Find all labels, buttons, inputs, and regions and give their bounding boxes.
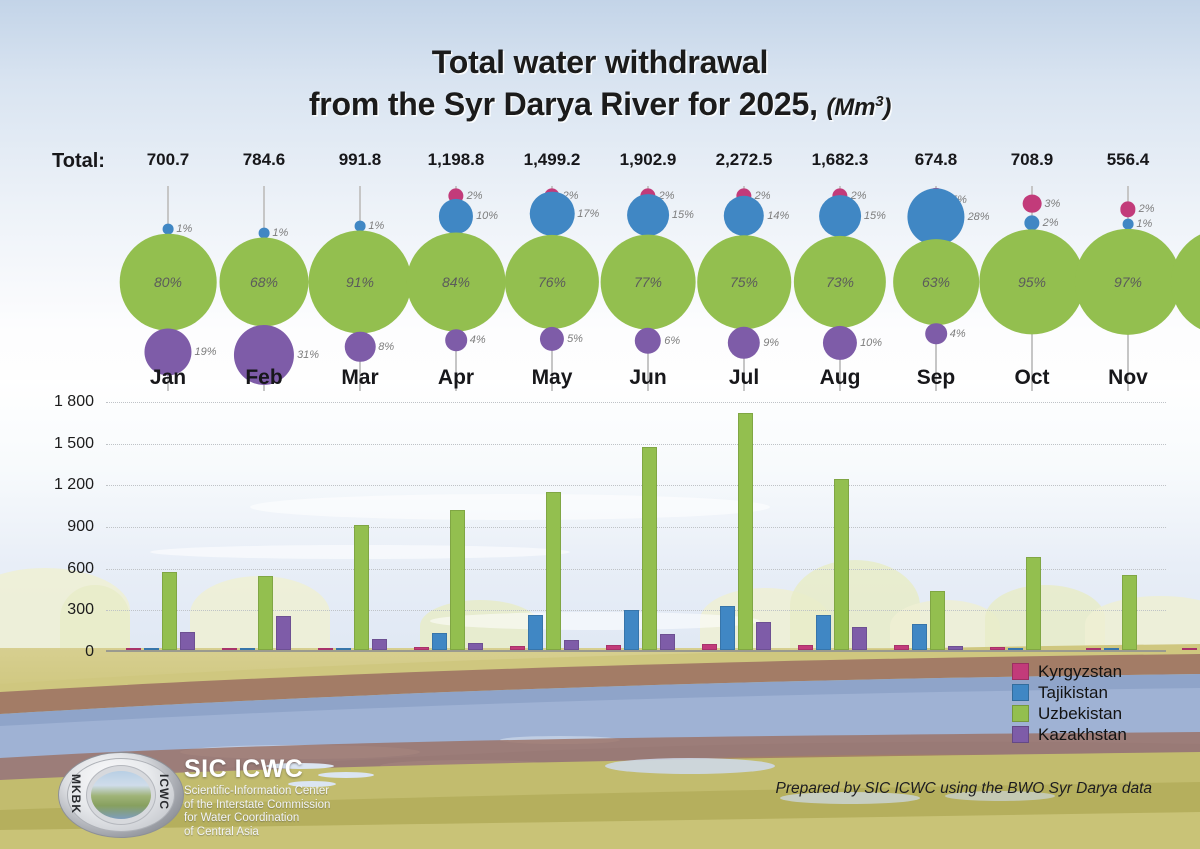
bubble-label-uzbekistan: 95% bbox=[1018, 274, 1046, 290]
bar-kazakhstan bbox=[948, 646, 963, 650]
bubble-label-tajikistan: 1% bbox=[368, 220, 384, 232]
month-label-jul: Jul bbox=[696, 366, 792, 390]
bar-group-aug bbox=[792, 400, 888, 650]
bubble-label-tajikistan: 15% bbox=[864, 210, 886, 222]
bubble-kazakhstan bbox=[635, 327, 661, 353]
total-value: 784.6 bbox=[216, 150, 312, 170]
credit-text: Prepared by SIC ICWC using the BWO Syr D… bbox=[776, 780, 1152, 798]
bubble-label-uzbekistan: 63% bbox=[922, 274, 950, 290]
bar-kyrgyzstan bbox=[126, 648, 141, 651]
bubble-kazakhstan bbox=[540, 327, 564, 351]
organization-name-line-3: for Water Coordination bbox=[184, 812, 330, 826]
bar-uzbekistan bbox=[258, 576, 273, 650]
bubble-label-tajikistan: 10% bbox=[476, 210, 498, 222]
bar-kyrgyzstan bbox=[222, 648, 237, 651]
legend-label: Kazakhstan bbox=[1038, 725, 1127, 745]
bubble-label-tajikistan: 2% bbox=[1043, 217, 1059, 229]
bar-tajikistan bbox=[1104, 648, 1119, 651]
y-axis-tick-label: 900 bbox=[4, 518, 94, 536]
bubble-tajikistan bbox=[1024, 215, 1039, 230]
total-value: 556.4 bbox=[1080, 150, 1176, 170]
bubble-label-uzbekistan: 77% bbox=[634, 274, 662, 290]
bubble-column-mar: 1%91%8% bbox=[312, 186, 408, 391]
bubble-label-tajikistan: 14% bbox=[767, 210, 789, 222]
bar-tajikistan bbox=[1008, 648, 1023, 651]
bubble-kazakhstan bbox=[823, 326, 857, 360]
bubble-label-kyrgyzstan: 3% bbox=[1044, 198, 1060, 210]
bubble-label-tajikistan: 17% bbox=[577, 208, 599, 220]
bubble-share-panel: 1%80%19%1%68%31%1%91%8%2%10%84%4%2%17%76… bbox=[0, 186, 1200, 391]
bar-kazakhstan bbox=[564, 640, 579, 650]
bubble-label-kazakhstan: 8% bbox=[378, 341, 394, 353]
bubble-column-feb: 1%68%31% bbox=[216, 186, 312, 391]
y-axis-tick-label: 0 bbox=[4, 643, 94, 661]
legend-item-tajikistan[interactable]: Tajikistan bbox=[1012, 682, 1127, 703]
bubble-column-may: 2%17%76%5% bbox=[504, 186, 600, 391]
totals-row: Total: 700.7784.6991.81,198.81,499.21,90… bbox=[0, 150, 1200, 178]
bar-uzbekistan bbox=[162, 572, 177, 650]
bubble-column-aug: 2%15%73%10% bbox=[792, 186, 888, 391]
x-axis-line bbox=[106, 650, 1166, 652]
total-value: 1,902.9 bbox=[600, 150, 696, 170]
y-axis-tick-label: 1 200 bbox=[4, 476, 94, 494]
chart-legend: KyrgyzstanTajikistanUzbekistanKazakhstan bbox=[1012, 661, 1127, 745]
bubble-label-kazakhstan: 4% bbox=[950, 328, 966, 340]
bar-kazakhstan bbox=[660, 634, 675, 650]
title-line-2: from the Syr Darya River for 2025, (Mm3) bbox=[0, 82, 1200, 128]
organization-name-line-1: Scientific-Information Center bbox=[184, 785, 330, 799]
bar-group-jul bbox=[696, 400, 792, 650]
bubble-tajikistan bbox=[907, 188, 964, 245]
month-label-may: May bbox=[504, 366, 600, 390]
bar-uzbekistan bbox=[834, 479, 849, 650]
bar-uzbekistan bbox=[450, 510, 465, 650]
legend-swatch bbox=[1012, 705, 1029, 722]
bubble-uzbekistan bbox=[1171, 229, 1200, 335]
bar-kyrgyzstan bbox=[414, 647, 429, 650]
bubble-label-tajikistan: 15% bbox=[672, 209, 694, 221]
organization-name: Scientific-Information Center of the Int… bbox=[184, 785, 330, 839]
total-value: 1,682.3 bbox=[792, 150, 888, 170]
bar-kyrgyzstan bbox=[702, 644, 717, 650]
legend-item-kazakhstan[interactable]: Kazakhstan bbox=[1012, 724, 1127, 745]
organization-name-line-2: of the Interstate Commission bbox=[184, 799, 330, 813]
y-axis-tick-label: 300 bbox=[4, 601, 94, 619]
bubble-tajikistan bbox=[530, 191, 575, 236]
organization-name-line-4: of Central Asia bbox=[184, 826, 330, 840]
bubble-label-kazakhstan: 5% bbox=[567, 333, 583, 345]
bubble-column-apr: 2%10%84%4% bbox=[408, 186, 504, 391]
logo-text-mkbk: MKBK bbox=[69, 774, 83, 814]
month-label-sep: Sep bbox=[888, 366, 984, 390]
bar-uzbekistan bbox=[1026, 557, 1041, 650]
bar-kazakhstan bbox=[276, 616, 291, 650]
title-unit-close: ) bbox=[883, 94, 891, 121]
legend-label: Tajikistan bbox=[1038, 683, 1108, 703]
bar-group-dec bbox=[1176, 400, 1200, 650]
sic-icwc-logo: MKBK ICWC bbox=[58, 752, 182, 836]
logo-medallion bbox=[86, 765, 156, 825]
bar-kyrgyzstan bbox=[894, 645, 909, 650]
month-label-feb: Feb bbox=[216, 366, 312, 390]
bar-tajikistan bbox=[336, 648, 351, 651]
bubble-kyrgyzstan bbox=[1120, 202, 1135, 217]
month-label-dec: Dec bbox=[1176, 366, 1200, 390]
bubble-kazakhstan bbox=[445, 329, 467, 351]
bar-group-sep bbox=[888, 400, 984, 650]
y-axis-tick-label: 1 500 bbox=[4, 435, 94, 453]
infographic-canvas: Total water withdrawal from the Syr Dary… bbox=[0, 0, 1200, 849]
legend-label: Kyrgyzstan bbox=[1038, 662, 1122, 682]
bar-kazakhstan bbox=[756, 622, 771, 650]
bubble-column-nov: 2%1%97% bbox=[1080, 186, 1176, 391]
title-line-2-text: from the Syr Darya River for 2025, bbox=[309, 86, 818, 122]
totals-label: Total: bbox=[52, 150, 105, 173]
month-label-row: JanFebMarAprMayJunJulAugSepOctNovDec bbox=[0, 366, 1200, 392]
bar-tajikistan bbox=[720, 606, 735, 650]
legend-item-uzbekistan[interactable]: Uzbekistan bbox=[1012, 703, 1127, 724]
month-label-jan: Jan bbox=[120, 366, 216, 390]
bar-uzbekistan bbox=[546, 492, 561, 650]
bar-kazakhstan bbox=[372, 639, 387, 650]
bar-uzbekistan bbox=[738, 413, 753, 650]
title-unit-open: (Mm bbox=[827, 94, 876, 121]
bar-kyrgyzstan bbox=[318, 648, 333, 651]
month-label-nov: Nov bbox=[1080, 366, 1176, 390]
bar-tajikistan bbox=[432, 633, 447, 650]
bar-kazakhstan bbox=[468, 643, 483, 650]
total-value: 2,272.5 bbox=[696, 150, 792, 170]
total-value: 700.7 bbox=[120, 150, 216, 170]
bar-tajikistan bbox=[624, 610, 639, 650]
bar-group-apr bbox=[408, 400, 504, 650]
bubble-label-tajikistan: 1% bbox=[176, 223, 192, 235]
total-value: 1,499.2 bbox=[504, 150, 600, 170]
bar-group-nov bbox=[1080, 400, 1176, 650]
bubble-column-sep: 5%28%63%4% bbox=[888, 186, 984, 391]
bubble-label-uzbekistan: 68% bbox=[250, 274, 278, 290]
bar-uzbekistan bbox=[1122, 575, 1137, 650]
bar-group-jan bbox=[120, 400, 216, 650]
title-line-1: Total water withdrawal bbox=[0, 42, 1200, 82]
bubble-column-jun: 2%15%77%6% bbox=[600, 186, 696, 391]
bar-kyrgyzstan bbox=[990, 647, 1005, 650]
legend-swatch bbox=[1012, 663, 1029, 680]
month-label-apr: Apr bbox=[408, 366, 504, 390]
bubble-label-tajikistan: 1% bbox=[1136, 218, 1152, 230]
bar-kyrgyzstan bbox=[510, 646, 525, 650]
logo-landscape-emblem bbox=[91, 771, 151, 819]
logo-text-icwc: ICWC bbox=[157, 774, 171, 810]
legend-item-kyrgyzstan[interactable]: Kyrgyzstan bbox=[1012, 661, 1127, 682]
bubble-kyrgyzstan bbox=[1023, 194, 1042, 213]
bar-uzbekistan bbox=[642, 447, 657, 650]
bubble-label-kazakhstan: 6% bbox=[664, 335, 680, 347]
month-label-oct: Oct bbox=[984, 366, 1080, 390]
month-label-mar: Mar bbox=[312, 366, 408, 390]
total-value: 1,198.8 bbox=[408, 150, 504, 170]
bubble-column-jan: 1%80%19% bbox=[120, 186, 216, 391]
bubble-label-kyrgyzstan: 2% bbox=[1139, 203, 1155, 215]
bar-tajikistan bbox=[816, 615, 831, 650]
total-value: 708.9 bbox=[984, 150, 1080, 170]
bubble-column-jul: 2%14%75%9% bbox=[696, 186, 792, 391]
bubble-kazakhstan bbox=[345, 332, 376, 363]
bar-group-mar bbox=[312, 400, 408, 650]
title-unit: (Mm3) bbox=[827, 94, 892, 121]
month-label-jun: Jun bbox=[600, 366, 696, 390]
bubble-label-uzbekistan: 80% bbox=[154, 274, 182, 290]
bar-kyrgyzstan bbox=[1086, 648, 1101, 651]
bar-uzbekistan bbox=[930, 591, 945, 650]
month-label-aug: Aug bbox=[792, 366, 888, 390]
bubble-label-uzbekistan: 75% bbox=[730, 274, 758, 290]
bar-group-oct bbox=[984, 400, 1080, 650]
bar-group-jun bbox=[600, 400, 696, 650]
bubble-label-kazakhstan: 9% bbox=[763, 337, 779, 349]
bar-tajikistan bbox=[144, 648, 159, 651]
total-value: 991.8 bbox=[312, 150, 408, 170]
bubble-kazakhstan bbox=[728, 327, 760, 359]
bar-kyrgyzstan bbox=[606, 645, 621, 650]
monthly-withdrawal-bar-chart: 03006009001 2001 5001 800 bbox=[106, 400, 1166, 652]
bar-kazakhstan bbox=[852, 627, 867, 650]
bubble-label-kyrgyzstan: 2% bbox=[467, 190, 483, 202]
bar-kyrgyzstan bbox=[1182, 648, 1197, 651]
bubble-label-uzbekistan: 97% bbox=[1114, 274, 1142, 290]
total-value: 281.9 bbox=[1176, 150, 1200, 170]
organization-acronym: SIC ICWC bbox=[184, 756, 330, 782]
bar-kazakhstan bbox=[180, 632, 195, 650]
bar-kyrgyzstan bbox=[798, 645, 813, 650]
y-axis-tick-label: 600 bbox=[4, 560, 94, 578]
bubble-label-kazakhstan: 19% bbox=[195, 346, 217, 358]
bubble-tajikistan bbox=[724, 196, 764, 236]
organization-block: SIC ICWC Scientific-Information Center o… bbox=[184, 756, 330, 839]
bubble-label-kazakhstan: 4% bbox=[470, 334, 486, 346]
legend-label: Uzbekistan bbox=[1038, 704, 1122, 724]
chart-title: Total water withdrawal from the Syr Dary… bbox=[0, 42, 1200, 128]
legend-swatch bbox=[1012, 726, 1029, 743]
bar-uzbekistan bbox=[354, 525, 369, 650]
bubble-tajikistan bbox=[627, 194, 669, 236]
y-axis-tick-label: 1 800 bbox=[4, 393, 94, 411]
bubble-column-oct: 3%2%95% bbox=[984, 186, 1080, 391]
bar-tajikistan bbox=[240, 648, 255, 651]
bar-tajikistan bbox=[912, 624, 927, 650]
bubble-label-kazakhstan: 10% bbox=[860, 337, 882, 349]
bubble-kazakhstan bbox=[925, 323, 947, 345]
bubble-column-dec: 1%97%2% bbox=[1176, 186, 1200, 391]
bubble-label-uzbekistan: 73% bbox=[826, 274, 854, 290]
total-value: 674.8 bbox=[888, 150, 984, 170]
bubble-label-uzbekistan: 84% bbox=[442, 274, 470, 290]
bubble-label-tajikistan: 1% bbox=[272, 227, 288, 239]
bar-group-may bbox=[504, 400, 600, 650]
legend-swatch bbox=[1012, 684, 1029, 701]
bubble-tajikistan bbox=[439, 199, 473, 233]
bar-group-feb bbox=[216, 400, 312, 650]
bubble-label-uzbekistan: 76% bbox=[538, 274, 566, 290]
bubble-tajikistan bbox=[819, 195, 861, 237]
bubble-label-uzbekistan: 91% bbox=[346, 274, 374, 290]
bar-tajikistan bbox=[528, 615, 543, 650]
